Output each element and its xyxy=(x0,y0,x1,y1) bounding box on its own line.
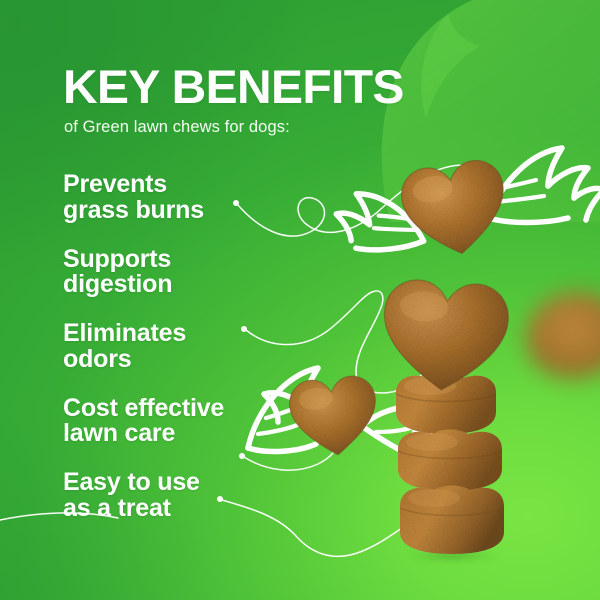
heart-chew-icon-second xyxy=(374,273,516,398)
page-title: KEY BENEFITS xyxy=(63,64,404,110)
benefit-item-supports-digestion: Supports digestion xyxy=(63,247,333,299)
heart-chew-icon-winged xyxy=(284,370,384,463)
benefits-list: Prevents grass burns Supports digestion … xyxy=(63,172,333,522)
benefit-item-eliminates-odors: Eliminates odors xyxy=(63,321,333,373)
heart-chew-icon-top xyxy=(393,152,517,266)
benefit-item-easy-to-use: Easy to use as a treat xyxy=(63,470,333,522)
benefits-infographic: KEY BENEFITS of Green lawn chews for dog… xyxy=(0,0,600,600)
heart-chew-icon-stack-bottom xyxy=(388,480,516,558)
benefit-item-prevents-grass-burns: Prevents grass burns xyxy=(63,172,333,224)
page-subtitle: of Green lawn chews for dogs: xyxy=(64,118,290,137)
